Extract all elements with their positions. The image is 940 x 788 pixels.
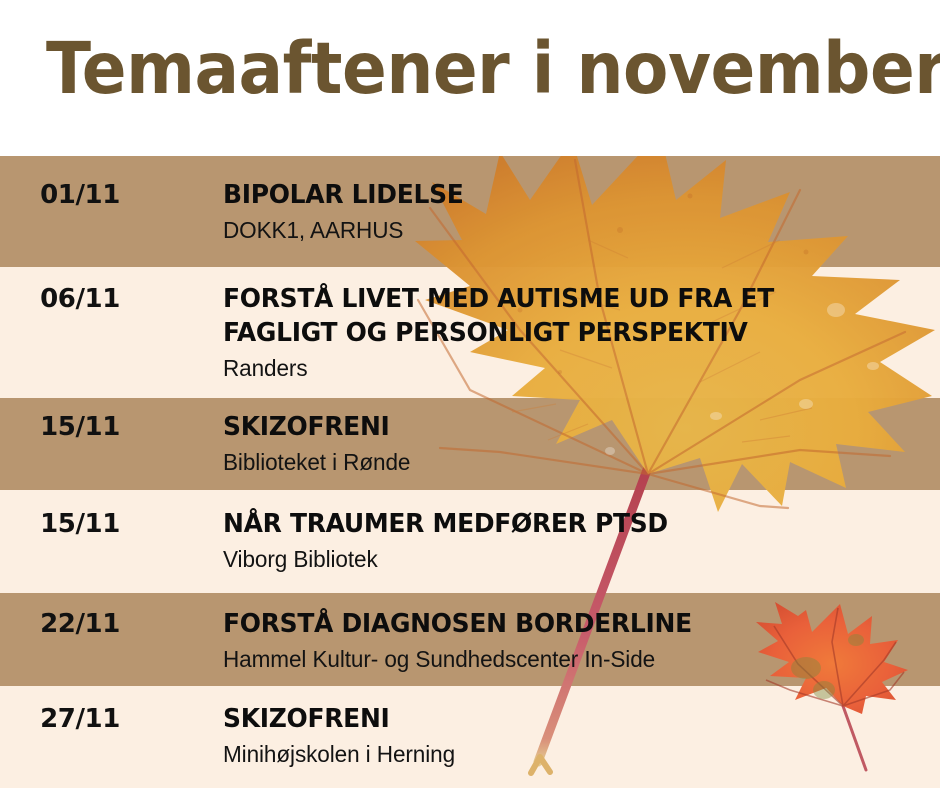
event-date: 15/11: [0, 507, 160, 539]
poster-header: Temaaftener i november: [0, 0, 940, 156]
event-venue: Minihøjskolen i Herning: [223, 739, 926, 769]
event-date: 01/11: [0, 178, 160, 210]
poster-canvas: Temaaftener i november 01/11 BIPOLAR LID…: [0, 0, 940, 788]
event-title: FORSTÅ LIVET MED AUTISME UD FRA ET FAGLI…: [223, 282, 911, 350]
event-date: 27/11: [0, 702, 160, 734]
event-row[interactable]: 06/11 FORSTÅ LIVET MED AUTISME UD FRA ET…: [0, 282, 940, 383]
event-row[interactable]: 27/11 SKIZOFRENI Minihøjskolen i Herning: [0, 702, 940, 769]
event-row[interactable]: 15/11 NÅR TRAUMER MEDFØRER PTSD Viborg B…: [0, 507, 940, 574]
event-date: 15/11: [0, 410, 160, 442]
event-date: 06/11: [0, 282, 160, 314]
event-title: SKIZOFRENI: [223, 702, 911, 736]
event-row[interactable]: 22/11 FORSTÅ DIAGNOSEN BORDERLINE Hammel…: [0, 607, 940, 674]
event-venue: Biblioteket i Rønde: [223, 447, 926, 477]
event-title: NÅR TRAUMER MEDFØRER PTSD: [223, 507, 911, 541]
event-body: NÅR TRAUMER MEDFØRER PTSD Viborg Bibliot…: [160, 507, 940, 574]
event-venue: DOKK1, AARHUS: [223, 215, 926, 245]
event-venue: Hammel Kultur- og Sundhedscenter In-Side: [223, 644, 926, 674]
event-date: 22/11: [0, 607, 160, 639]
event-body: SKIZOFRENI Biblioteket i Rønde: [160, 410, 940, 477]
event-body: SKIZOFRENI Minihøjskolen i Herning: [160, 702, 940, 769]
event-body: FORSTÅ DIAGNOSEN BORDERLINE Hammel Kultu…: [160, 607, 940, 674]
event-title: SKIZOFRENI: [223, 410, 911, 444]
page-title: Temaaftener i november: [46, 26, 940, 112]
event-body: BIPOLAR LIDELSE DOKK1, AARHUS: [160, 178, 940, 245]
event-row[interactable]: 01/11 BIPOLAR LIDELSE DOKK1, AARHUS: [0, 178, 940, 245]
event-venue: Viborg Bibliotek: [223, 544, 926, 574]
event-title: BIPOLAR LIDELSE: [223, 178, 911, 212]
event-body: FORSTÅ LIVET MED AUTISME UD FRA ET FAGLI…: [160, 282, 940, 383]
event-row[interactable]: 15/11 SKIZOFRENI Biblioteket i Rønde: [0, 410, 940, 477]
event-venue: Randers: [223, 353, 926, 383]
event-title: FORSTÅ DIAGNOSEN BORDERLINE: [223, 607, 911, 641]
